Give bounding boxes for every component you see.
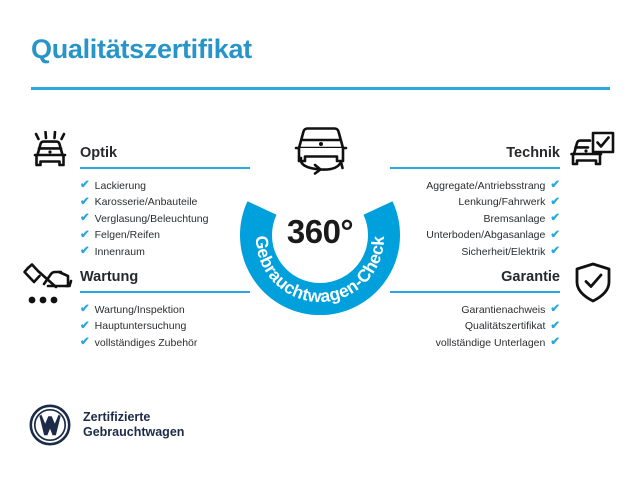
list-item: Unterboden/Abgasanlage✔: [390, 227, 560, 244]
section-divider: [390, 167, 560, 169]
section-optik: Optik ✔Lackierung ✔Karosserie/Anbauteile…: [80, 146, 250, 260]
list-item-label: Garantienachweis: [461, 302, 545, 319]
list-item: Garantienachweis✔: [390, 302, 560, 319]
list-item-label: Innenraum: [95, 244, 145, 261]
car-shine-icon: [27, 131, 73, 178]
header-divider: [31, 87, 610, 90]
section-heading: Technik: [390, 146, 560, 161]
check-icon: ✔: [80, 213, 90, 225]
check-icon: ✔: [550, 321, 560, 333]
list-item-label: Wartung/Inspektion: [95, 302, 185, 319]
section-garantie: Garantie Garantienachweis✔ Qualitätszert…: [390, 270, 560, 351]
list-item-label: Aggregate/Antriebsstrang: [426, 178, 545, 195]
vw-logo-icon: [29, 404, 71, 446]
list-item: ✔Karosserie/Anbauteile: [80, 194, 250, 211]
car-checklist-icon: [568, 131, 616, 180]
certificate-page: Qualitätszertifikat: [0, 0, 640, 480]
page-title: Qualitätszertifikat: [31, 34, 252, 65]
list-item: Aggregate/Antriebsstrang✔: [390, 178, 560, 195]
section-technik: Technik Aggregate/Antriebsstrang✔ Lenkun…: [390, 146, 560, 260]
list-item-label: vollständiges Zubehör: [95, 335, 198, 352]
list-item-label: Sicherheit/Elektrik: [461, 244, 545, 261]
list-item: ✔Lackierung: [80, 178, 250, 195]
badge-degrees: 360°: [232, 150, 408, 326]
section-divider: [80, 291, 250, 293]
section-heading: Wartung: [80, 270, 250, 285]
list-item: Qualitätszertifikat✔: [390, 318, 560, 335]
section-item-list: ✔Wartung/Inspektion ✔Hauptuntersuchung ✔…: [80, 302, 250, 352]
list-item: ✔Felgen/Reifen: [80, 227, 250, 244]
section-heading: Optik: [80, 146, 250, 161]
section-item-list: Aggregate/Antriebsstrang✔ Lenkung/Fahrwe…: [390, 178, 560, 261]
section-item-list: ✔Lackierung ✔Karosserie/Anbauteile ✔Verg…: [80, 178, 250, 261]
check-icon: ✔: [80, 197, 90, 209]
footer-line-2: Gebrauchtwagen: [83, 425, 184, 439]
check-icon: ✔: [550, 246, 560, 258]
list-item-label: Hauptuntersuchung: [95, 318, 187, 335]
check-icon: ✔: [80, 230, 90, 242]
vw-certified-footer: Zertifizierte Gebrauchtwagen: [29, 404, 184, 446]
check-icon: ✔: [550, 230, 560, 242]
check-icon: ✔: [80, 304, 90, 316]
list-item: Bremsanlage✔: [390, 211, 560, 228]
section-divider: [390, 291, 560, 293]
check-icon: ✔: [550, 197, 560, 209]
section-heading: Garantie: [390, 270, 560, 285]
section-item-list: Garantienachweis✔ Qualitätszertifikat✔ v…: [390, 302, 560, 352]
list-item: Sicherheit/Elektrik✔: [390, 244, 560, 261]
list-item-label: Karosserie/Anbauteile: [95, 194, 198, 211]
list-item: ✔Wartung/Inspektion: [80, 302, 250, 319]
list-item: Lenkung/Fahrwerk✔: [390, 194, 560, 211]
list-item: vollständige Unterlagen✔: [390, 335, 560, 352]
list-item: ✔Hauptuntersuchung: [80, 318, 250, 335]
check-icon: ✔: [550, 337, 560, 349]
check-icon: ✔: [550, 304, 560, 316]
section-divider: [80, 167, 250, 169]
section-wartung: Wartung ✔Wartung/Inspektion ✔Hauptunters…: [80, 270, 250, 351]
list-item-label: Verglasung/Beleuchtung: [95, 211, 209, 228]
shield-check-icon: [573, 261, 613, 310]
footer-text: Zertifizierte Gebrauchtwagen: [83, 410, 184, 441]
list-item: ✔vollständiges Zubehör: [80, 335, 250, 352]
list-item-label: Felgen/Reifen: [95, 227, 160, 244]
list-item: ✔Verglasung/Beleuchtung: [80, 211, 250, 228]
footer-line-1: Zertifizierte: [83, 410, 150, 424]
check-icon: ✔: [550, 180, 560, 192]
list-item-label: Bremsanlage: [483, 211, 545, 228]
check-icon: ✔: [80, 246, 90, 258]
car-service-wrench-icon: [22, 262, 74, 313]
list-item-label: Qualitätszertifikat: [465, 318, 546, 335]
check-icon: ✔: [80, 180, 90, 192]
list-item: ✔Innenraum: [80, 244, 250, 261]
list-item-label: Lenkung/Fahrwerk: [458, 194, 545, 211]
list-item-label: Unterboden/Abgasanlage: [426, 227, 545, 244]
list-item-label: vollständige Unterlagen: [436, 335, 546, 352]
badge-360-gebrauchtwagen-check: Gebrauchtwagen-Check 360°: [232, 150, 408, 326]
list-item-label: Lackierung: [95, 178, 146, 195]
check-icon: ✔: [80, 321, 90, 333]
check-icon: ✔: [550, 213, 560, 225]
check-icon: ✔: [80, 337, 90, 349]
